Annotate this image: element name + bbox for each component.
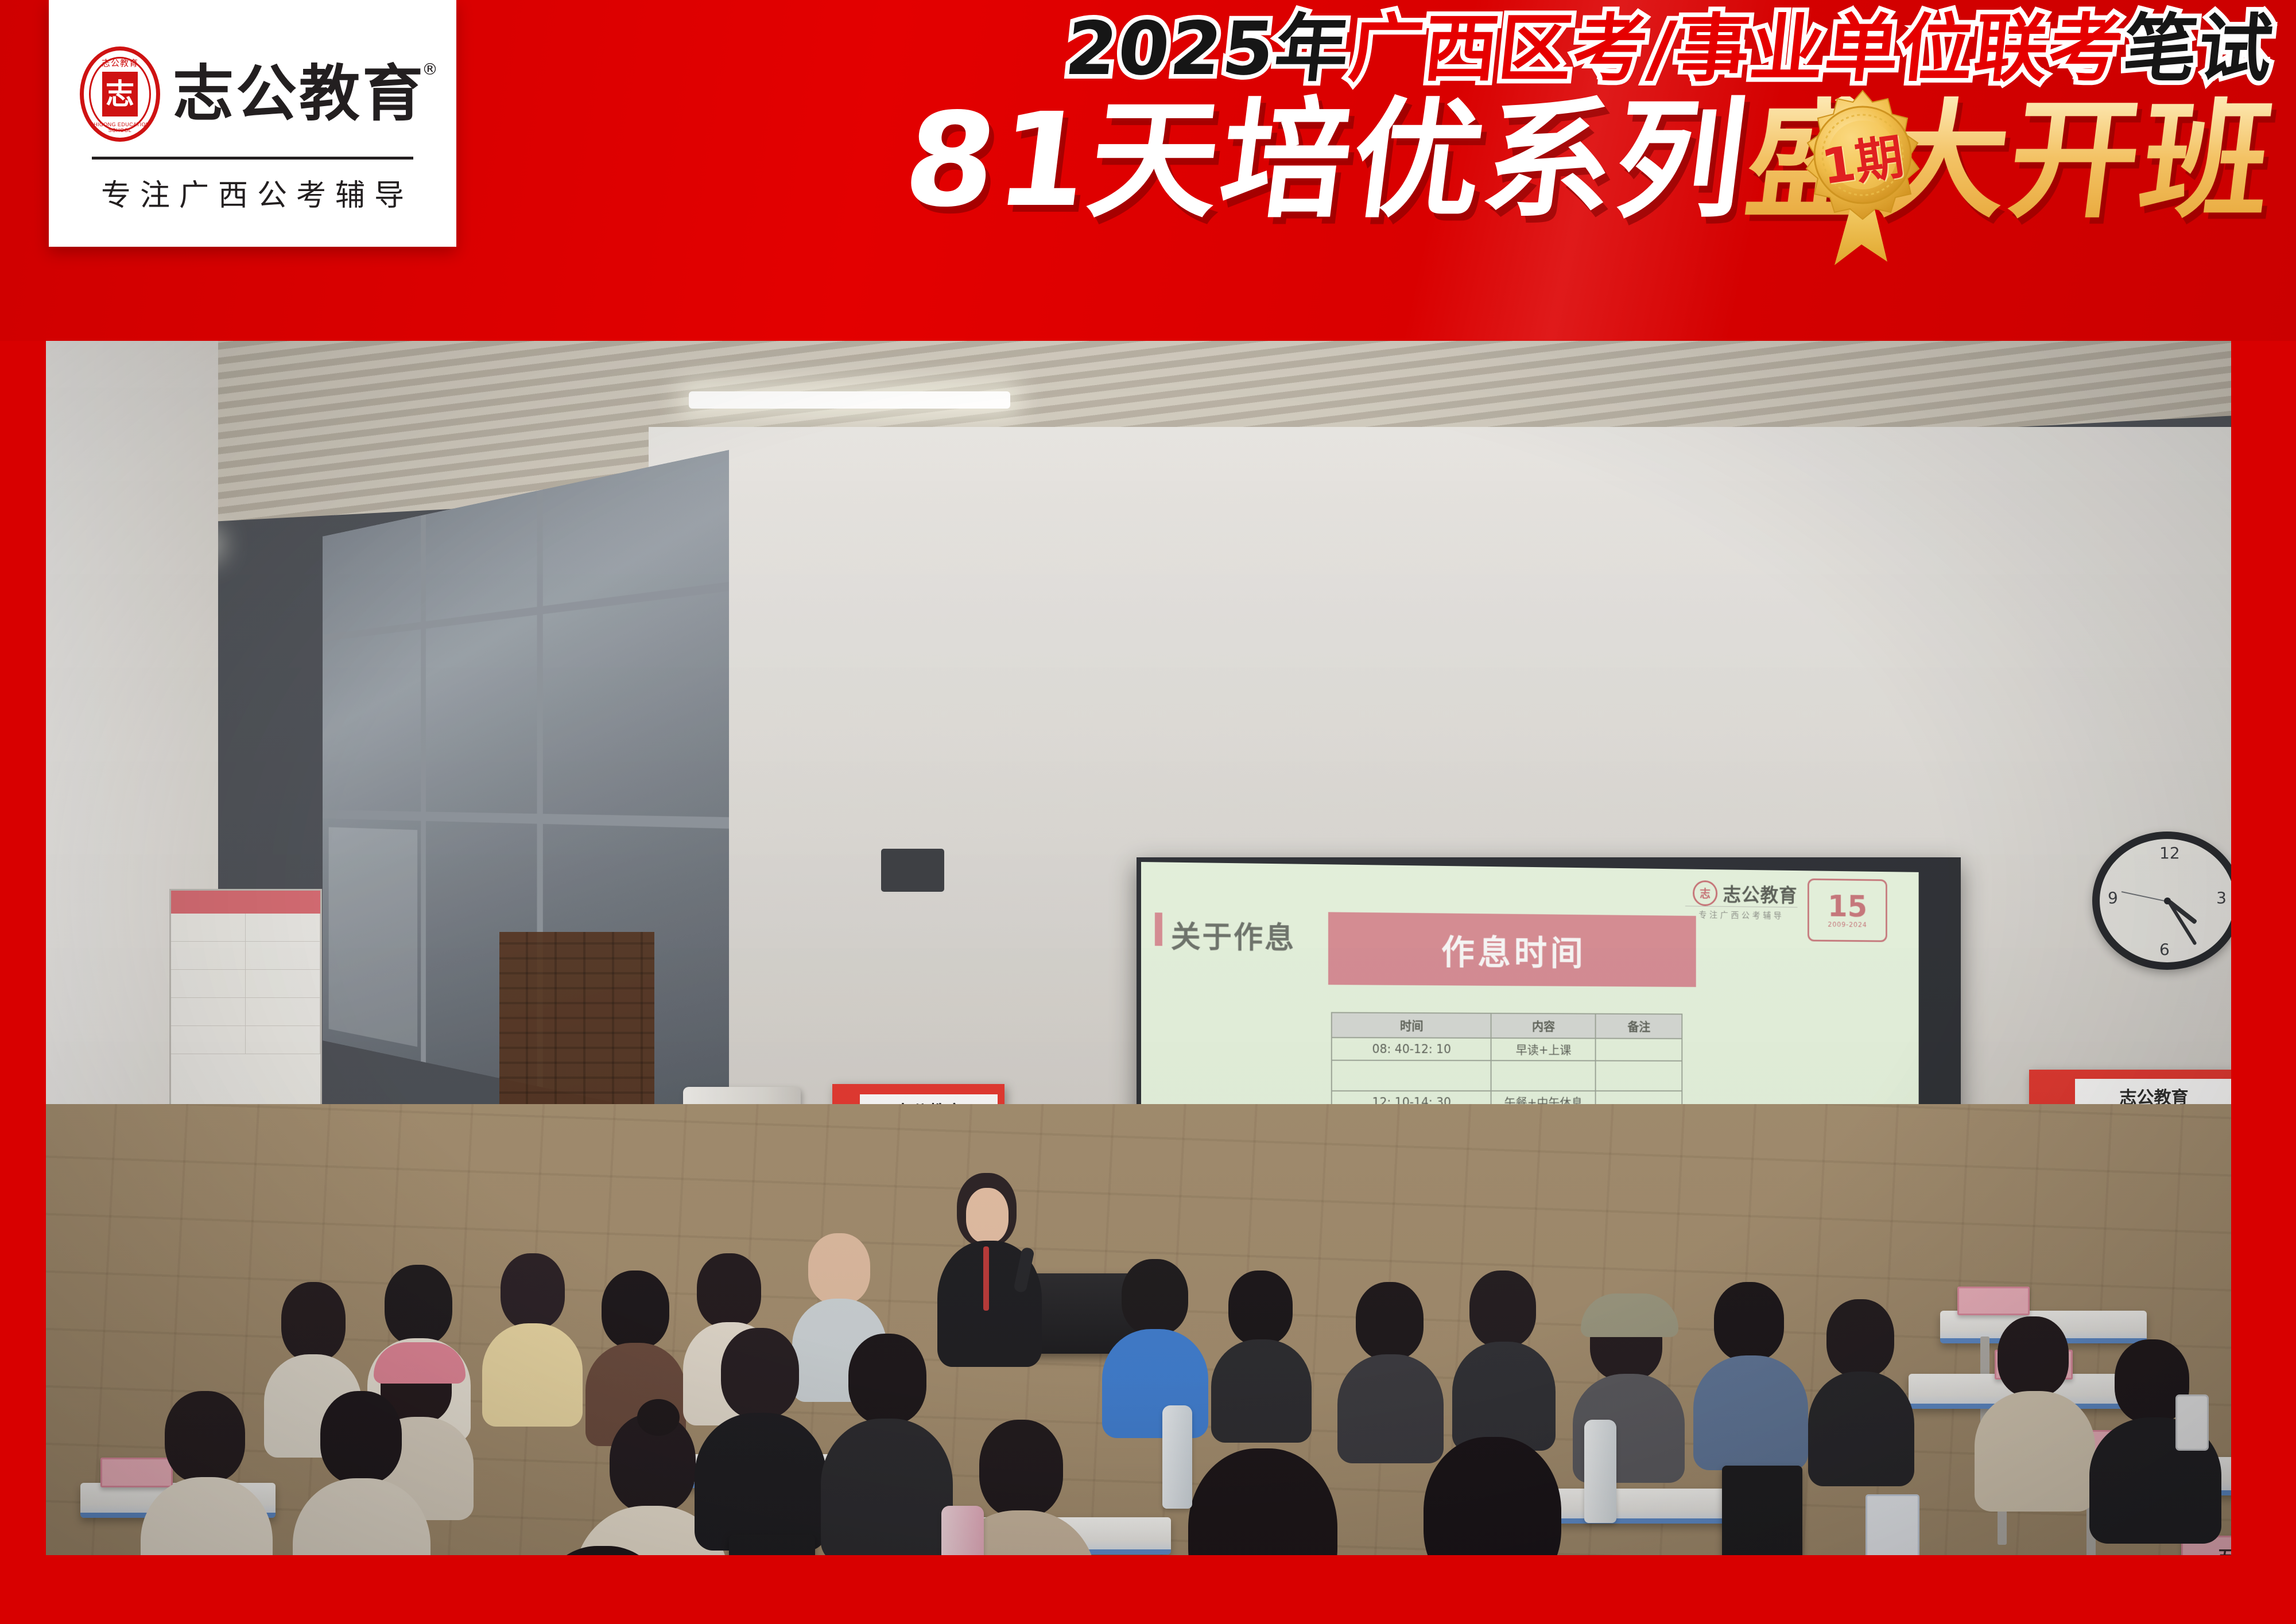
student-head — [602, 1271, 669, 1349]
gold-rosette-badge-icon: 1期 — [1785, 83, 1940, 266]
student — [695, 1328, 827, 1517]
seal-top-text: 志公教育 — [84, 57, 156, 69]
student-head — [1356, 1282, 1424, 1360]
notice-board-row — [171, 914, 320, 942]
slide-brand-logo: 志 志公教育 — [1693, 879, 1797, 907]
slide-brand-tagline: 专注广西公考辅导 — [1685, 906, 1797, 921]
water-bottle — [1162, 1405, 1192, 1509]
schedule-remark — [1596, 1060, 1682, 1091]
student — [1211, 1271, 1312, 1414]
seal-core-char: 志 — [102, 72, 138, 116]
student-head — [281, 1282, 346, 1361]
logo-row: 志公教育 志 ZHIGONG EDUCATION SCHOOL 志公教育 ® — [80, 46, 425, 142]
teacher-face — [966, 1188, 1009, 1243]
notice-board-row — [171, 970, 320, 998]
schedule-remark — [1596, 1038, 1682, 1060]
anniversary-badge: 15 2009-2024 — [1808, 879, 1887, 942]
student-head — [1122, 1259, 1188, 1335]
mullion-v1 — [421, 514, 426, 1062]
student-body — [1693, 1355, 1808, 1470]
beige-cap — [1581, 1293, 1678, 1337]
headline-exam-type: 笔试 — [2120, 13, 2276, 86]
pink-cap — [374, 1342, 466, 1384]
student-body — [821, 1419, 953, 1555]
student-foreground — [482, 1546, 723, 1555]
headline-exam-name: 广西区考/事业单位联考 — [1345, 13, 2127, 86]
registered-mark: ® — [422, 61, 440, 77]
student-head — [165, 1391, 245, 1483]
student-body — [482, 1323, 583, 1427]
schedule-col-content: 内容 — [1491, 1013, 1596, 1039]
brand-name: 志公教育 ® — [173, 64, 425, 125]
student-body — [1452, 1342, 1556, 1451]
schedule-col-remark: 备注 — [1596, 1014, 1682, 1039]
student-head — [1188, 1448, 1337, 1555]
classroom-photo: 12 3 6 9 志 志公教育 专注广西公考辅导 15 2009-2024 关于… — [46, 341, 2231, 1555]
student — [1337, 1282, 1444, 1431]
milk-carton — [1865, 1494, 1919, 1555]
brand-seal-icon: 志公教育 志 ZHIGONG EDUCATION SCHOOL — [80, 46, 160, 142]
student — [1452, 1271, 1556, 1420]
slide-title-bar: 作息时间 — [1328, 912, 1696, 987]
student-head — [979, 1420, 1063, 1517]
chair — [729, 1534, 815, 1555]
schedule-time: 08: 40-12: 10 — [1332, 1038, 1491, 1060]
seal-bottom-text: ZHIGONG EDUCATION SCHOOL — [84, 122, 156, 133]
student — [293, 1391, 430, 1555]
notice-board-row — [171, 942, 320, 970]
student-body — [1102, 1329, 1208, 1438]
water-bottle — [1584, 1420, 1616, 1523]
slide-brand-name: 志公教育 — [1723, 880, 1797, 908]
smartphone — [2175, 1394, 2209, 1451]
logo-divider — [92, 157, 413, 160]
student — [821, 1334, 953, 1529]
clock-second-hand — [2121, 891, 2167, 902]
table-name-card — [1957, 1287, 2030, 1315]
chair — [1722, 1466, 1802, 1555]
student-head — [501, 1253, 565, 1329]
headline-year: 2025年 — [1062, 13, 1353, 86]
notice-board-row — [171, 1026, 320, 1054]
ceiling-light-1 — [689, 391, 1010, 409]
notice-board-header — [171, 891, 320, 914]
headline-course-name: 81天培优系列 — [898, 96, 1755, 226]
student-head — [1228, 1271, 1293, 1345]
headline-line-1: 2025年广西区考/事业单位联考笔试 — [754, 13, 2276, 86]
headline-block: 2025年广西区考/事业单位联考笔试 81天培优系列盛大开班 — [758, 13, 2273, 269]
schedule-col-time: 时间 — [1332, 1013, 1491, 1038]
glass-panel-1 — [329, 827, 417, 1047]
student-head — [1998, 1316, 2069, 1397]
student-head — [1424, 1437, 1561, 1555]
pink-thermos — [941, 1506, 984, 1555]
notice-board-row — [171, 998, 320, 1026]
student-head — [721, 1328, 799, 1419]
teacher-lanyard — [983, 1246, 989, 1311]
anniversary-number: 15 — [1828, 892, 1867, 921]
student-body — [293, 1478, 430, 1555]
clock-center-pin — [2164, 898, 2171, 904]
brand-tagline: 专注广西公考辅导 — [92, 171, 413, 214]
slide-seal-icon: 志 — [1693, 880, 1717, 906]
slide-kicker-accent-bar — [1155, 912, 1162, 946]
student-head — [534, 1546, 672, 1555]
student-body — [1808, 1372, 1914, 1486]
student-body — [695, 1413, 827, 1551]
student-body — [141, 1477, 273, 1555]
slide-title: 作息时间 — [1441, 925, 1586, 975]
mullion-h1 — [323, 582, 729, 642]
schedule-header-row: 时间 内容 备注 — [1332, 1013, 1682, 1039]
promo-banner: 志公教育 志 ZHIGONG EDUCATION SCHOOL 志公教育 ® 专… — [0, 0, 2296, 341]
student — [482, 1253, 583, 1397]
student-with-phone — [2089, 1339, 2221, 1517]
schedule-content: 早读+上课 — [1491, 1038, 1596, 1061]
student-blue-hoodie — [1102, 1259, 1208, 1408]
brand-name-text: 志公教育 — [173, 59, 425, 129]
student-head — [697, 1253, 761, 1328]
student-head — [848, 1334, 926, 1424]
student-head — [1826, 1299, 1894, 1377]
student-checkered-shirt — [1360, 1437, 1619, 1555]
student — [141, 1391, 273, 1555]
mullion-h2 — [323, 810, 729, 829]
wall-speaker — [881, 849, 944, 892]
anniversary-years: 2009-2024 — [1828, 920, 1867, 928]
student-blue-jacket — [1693, 1282, 1808, 1443]
student — [585, 1271, 686, 1414]
schedule-time — [1332, 1060, 1491, 1091]
brick-wall-behind-glass — [499, 932, 654, 1121]
headline-line-2-wrap: 81天培优系列盛大开班 — [758, 96, 2273, 269]
headline-line-2: 81天培优系列盛大开班 — [750, 96, 2281, 226]
slide-kicker: 关于作息 — [1171, 913, 1296, 957]
schedule-spacer-row — [1332, 1060, 1682, 1091]
schedule-content — [1491, 1060, 1596, 1091]
student — [1808, 1299, 1914, 1454]
hair-bun — [637, 1399, 680, 1436]
student-head — [1469, 1271, 1536, 1347]
student-body — [1211, 1339, 1312, 1443]
student-body — [1975, 1391, 2095, 1512]
notice-board — [169, 889, 322, 1122]
schedule-row: 08: 40-12: 10早读+上课 — [1332, 1038, 1682, 1061]
student-head — [385, 1265, 452, 1345]
student-head — [320, 1391, 402, 1484]
student-head — [808, 1233, 870, 1304]
brand-logo-plaque: 志公教育 志 ZHIGONG EDUCATION SCHOOL 志公教育 ® 专… — [49, 0, 456, 247]
student-head — [1714, 1282, 1784, 1361]
student-beige-shirt — [1975, 1316, 2095, 1483]
